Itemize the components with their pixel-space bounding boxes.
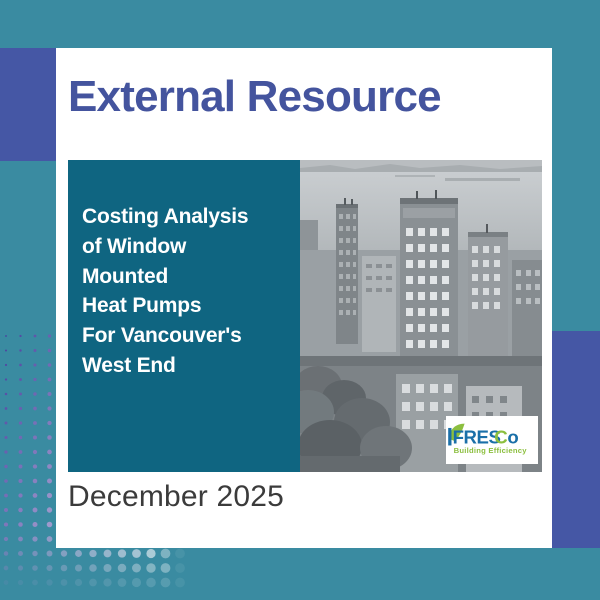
svg-text:C: C (494, 426, 507, 447)
accent-block-right (552, 331, 600, 548)
subtitle-line: For Vancouver's (82, 321, 282, 351)
subtitle-line: of Window (82, 232, 282, 262)
document-subtitle: Costing Analysis of Window Mounted Heat … (82, 202, 282, 381)
subtitle-line: Heat Pumps (82, 291, 282, 321)
subtitle-line: Costing Analysis (82, 202, 282, 232)
cover-photo: FRES C o Building Efficiency (300, 160, 542, 472)
subtitle-box: Costing Analysis of Window Mounted Heat … (68, 160, 300, 472)
content-card: External Resource Costing Analysis of Wi… (56, 48, 552, 548)
svg-text:Building Efficiency: Building Efficiency (454, 446, 528, 455)
svg-text:o: o (507, 426, 518, 447)
publication-date: December 2025 (68, 480, 284, 514)
banner-row: Costing Analysis of Window Mounted Heat … (68, 160, 542, 472)
subtitle-line: Mounted (82, 262, 282, 292)
poster-canvas: External Resource Costing Analysis of Wi… (0, 0, 600, 600)
page-title: External Resource (68, 74, 441, 120)
accent-block-left (0, 48, 56, 161)
fresco-logo: FRES C o Building Efficiency (446, 416, 538, 464)
subtitle-line: West End (82, 351, 282, 381)
